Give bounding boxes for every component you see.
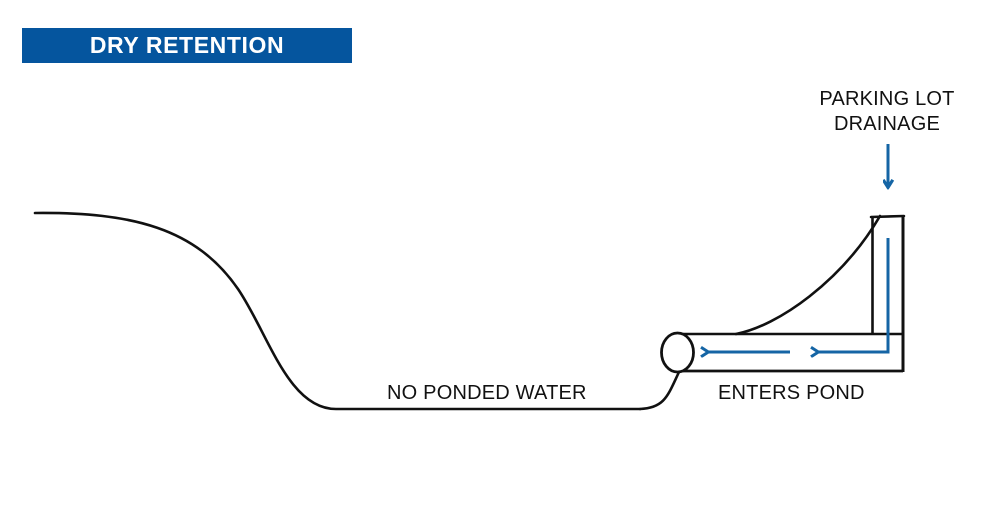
- wall-cap-top-edge: [871, 216, 904, 217]
- parking-lot-drainage-label: PARKING LOT DRAINAGE: [812, 87, 962, 137]
- pond-bottom-rise: [640, 372, 679, 409]
- enters-pond-label: ENTERS POND: [718, 382, 865, 405]
- pipe-opening-circle: [662, 333, 694, 372]
- parking-lot-drainage-label-line1: PARKING LOT: [812, 87, 962, 112]
- berm-arc: [736, 216, 880, 334]
- diagram-canvas: DRY RETENTION PARKING LOT DRAINAGE NO PO…: [0, 0, 993, 531]
- page-title: DRY RETENTION: [90, 32, 284, 59]
- parking-lot-drainage-label-line2: DRAINAGE: [812, 112, 962, 137]
- dry-retention-diagram: [0, 0, 993, 531]
- no-ponded-water-label: NO PONDED WATER: [387, 382, 587, 405]
- ground-profile-curve: [35, 213, 640, 409]
- dry-retention-banner: DRY RETENTION: [22, 28, 352, 63]
